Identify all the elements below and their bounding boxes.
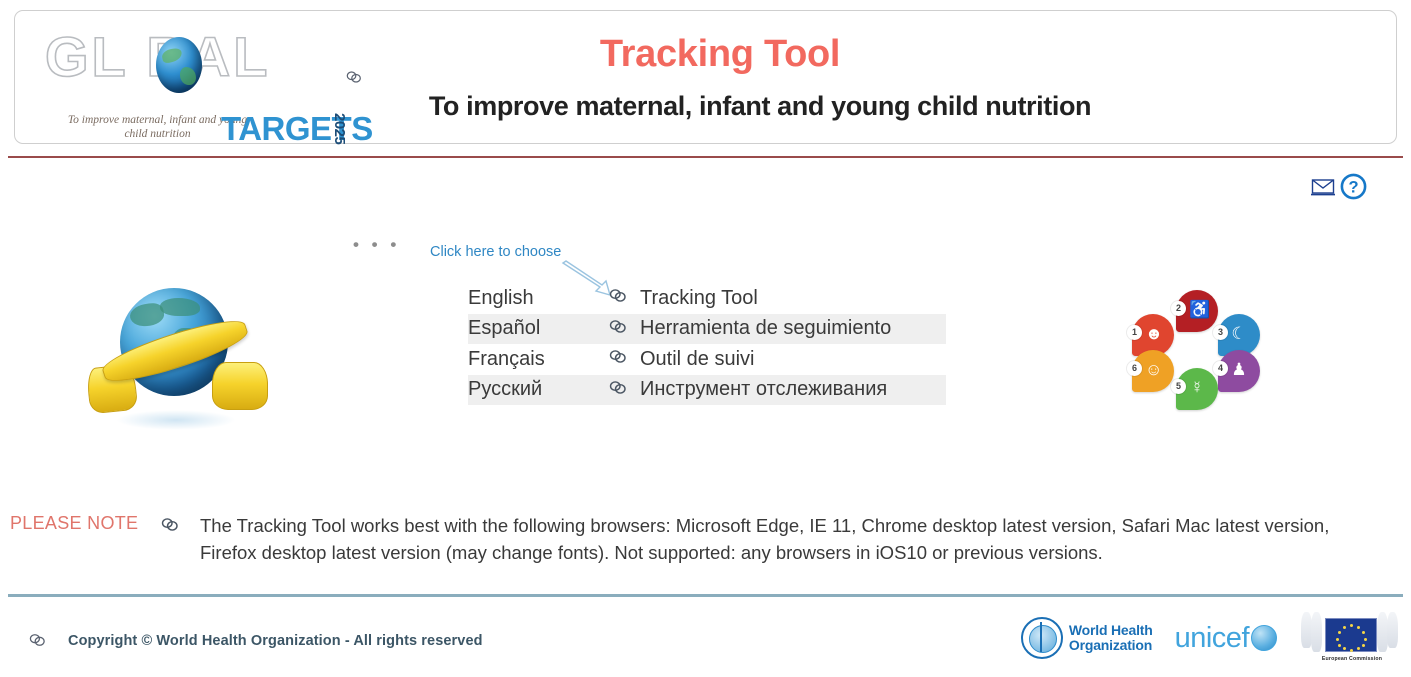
table-row[interactable]: Français Outil de suivi <box>468 344 946 375</box>
target-figure-icon: ☻ <box>1145 323 1161 347</box>
unicef-logo: unicef <box>1175 623 1277 653</box>
target-figure-icon: ☿ <box>1189 377 1205 401</box>
who-logo: World Health Organization <box>1021 617 1153 659</box>
link-icon[interactable] <box>608 318 628 335</box>
global-nutrition-targets-icons: 1 ☻ 2 ♿ 3 ☾ 4 ♟ 5 ☿ 6 ☺ <box>1122 288 1272 406</box>
link-icon[interactable] <box>608 379 628 396</box>
unicef-emblem-icon <box>1251 625 1277 651</box>
target-number: 3 <box>1213 325 1228 340</box>
target-badge-2: 2 ♿ <box>1176 290 1218 332</box>
globe-measuring-tape-image <box>86 278 294 438</box>
language-name: Русский <box>468 375 596 406</box>
target-figure-icon: ♟ <box>1231 359 1247 383</box>
target-number: 4 <box>1213 361 1228 376</box>
link-icon[interactable] <box>608 348 628 365</box>
language-link-cell[interactable] <box>596 375 640 406</box>
who-logo-line2: Organization <box>1069 638 1153 653</box>
utility-icon-bar: ? <box>1311 173 1367 200</box>
logo-targets-word: TARGETS <box>221 111 373 147</box>
language-name: Español <box>468 314 596 345</box>
target-number: 5 <box>1171 379 1186 394</box>
please-note-label: PLEASE NOTE <box>10 513 138 534</box>
language-name: Français <box>468 344 596 375</box>
target-figure-icon: ☾ <box>1231 323 1247 347</box>
mail-icon[interactable] <box>1311 177 1335 196</box>
link-icon[interactable] <box>160 516 180 533</box>
target-number: 2 <box>1171 301 1186 316</box>
target-figure-icon: ♿ <box>1189 299 1205 323</box>
tool-title: Инструмент отслеживания <box>640 375 946 406</box>
who-logo-line1: World Health <box>1069 623 1153 638</box>
language-selection-table: English Tracking Tool Español <box>468 283 946 405</box>
global-targets-logo: GL BAL To improve maternal, infant and y… <box>35 25 325 135</box>
ellipsis-marker: • • • <box>353 240 400 250</box>
globe-reflection <box>116 410 236 430</box>
target-number: 6 <box>1127 361 1142 376</box>
language-link-cell[interactable] <box>596 283 640 314</box>
page-subtitle: To improve maternal, infant and young ch… <box>375 91 1145 122</box>
logo-year: 2025 <box>331 113 348 144</box>
target-badge-5: 5 ☿ <box>1176 368 1218 410</box>
copyright-text: Copyright © World Health Organization - … <box>68 633 483 649</box>
eu-flag-icon <box>1325 618 1377 652</box>
language-link-cell[interactable] <box>596 344 640 375</box>
target-figure-icon: ☺ <box>1145 359 1161 383</box>
target-number: 1 <box>1127 325 1142 340</box>
callout-label: Click here to choose <box>430 244 561 260</box>
link-icon[interactable] <box>608 287 628 304</box>
partner-logos: World Health Organization unicef Europea… <box>1021 612 1403 664</box>
header-divider <box>8 156 1403 158</box>
header-banner: GL BAL To improve maternal, infant and y… <box>14 10 1397 144</box>
logo-globe-icon <box>156 37 202 93</box>
table-row[interactable]: English Tracking Tool <box>468 283 946 314</box>
svg-text:?: ? <box>1348 179 1358 197</box>
tool-title: Outil de suivi <box>640 344 946 375</box>
who-logo-text: World Health Organization <box>1069 623 1153 653</box>
target-badge-6: 6 ☺ <box>1132 350 1174 392</box>
unicef-wordmark: unicef <box>1175 623 1249 653</box>
link-icon[interactable] <box>345 69 363 85</box>
footer-divider <box>8 594 1403 597</box>
table-row[interactable]: Русский Инструмент отслеживания <box>468 375 946 406</box>
page-title: Tracking Tool <box>375 33 1065 76</box>
european-commission-caption: European Commission <box>1317 656 1387 662</box>
tool-title: Herramienta de seguimiento <box>640 314 946 345</box>
language-name: English <box>468 283 596 314</box>
language-link-cell[interactable] <box>596 314 640 345</box>
target-badge-4: 4 ♟ <box>1218 350 1260 392</box>
who-emblem-icon <box>1021 617 1063 659</box>
table-row[interactable]: Español Herramienta de seguimiento <box>468 314 946 345</box>
language-table-body: English Tracking Tool Español <box>468 283 946 405</box>
european-commission-logo: European Commission <box>1299 612 1403 664</box>
please-note-text: The Tracking Tool works best with the fo… <box>200 512 1380 566</box>
tool-title: Tracking Tool <box>640 283 946 314</box>
measuring-tape-roll-right <box>212 362 268 410</box>
help-circle-icon[interactable]: ? <box>1340 173 1367 200</box>
link-icon[interactable] <box>28 632 47 648</box>
